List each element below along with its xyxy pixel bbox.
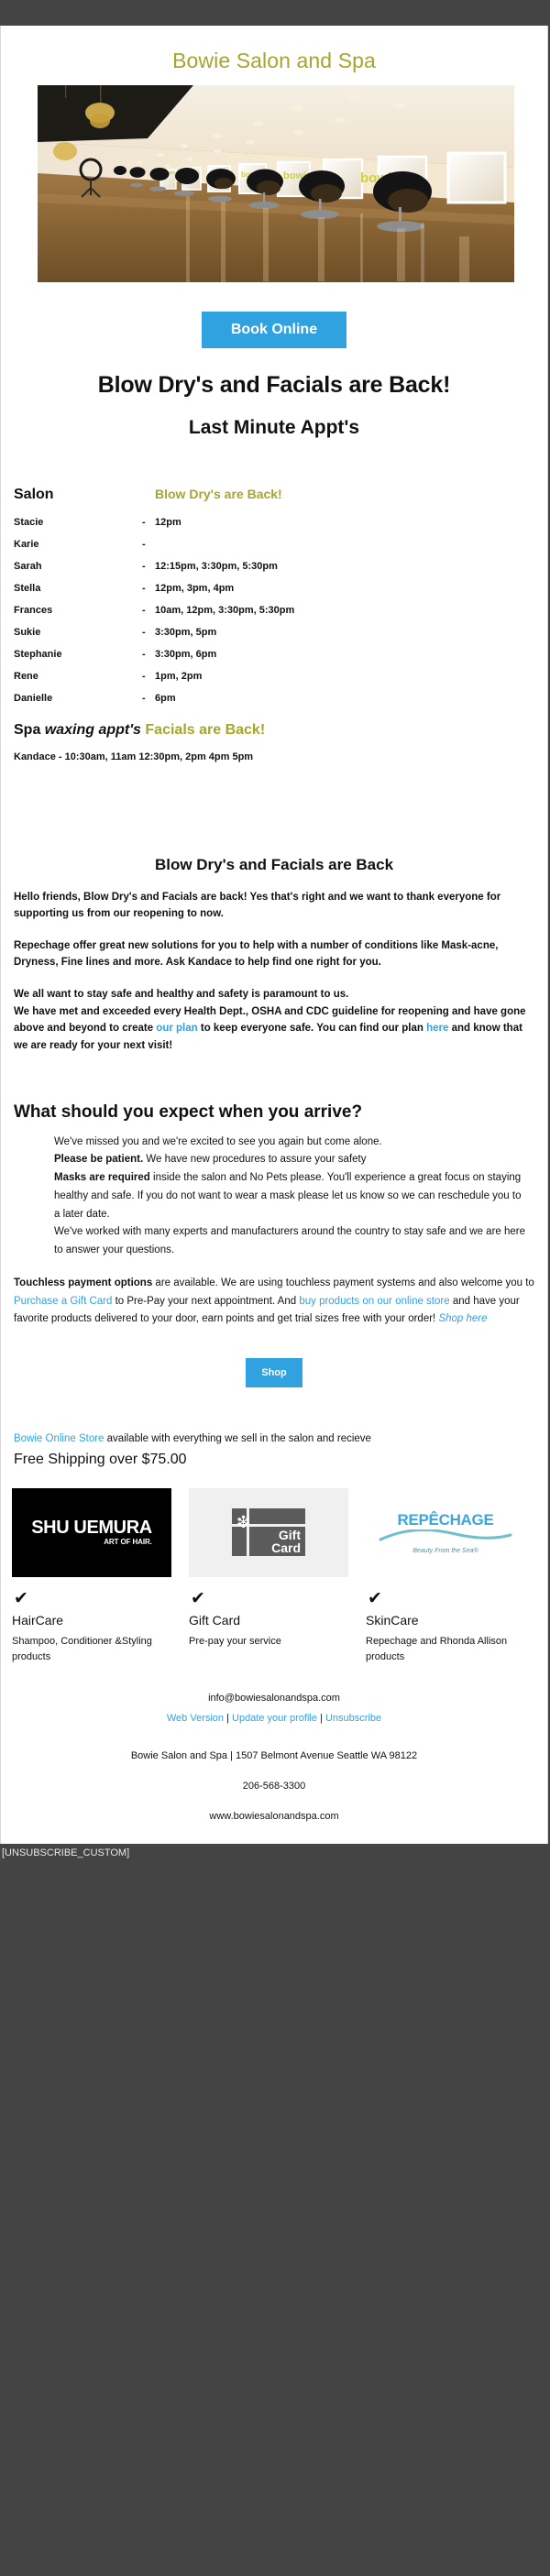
gift-card-wordmark: GiftCard [271,1529,301,1555]
table-row: Sarah - 12:15pm, 3:30pm, 5:30pm [14,555,534,577]
stylist-times: 10am, 12pm, 3:30pm, 5:30pm [155,599,534,621]
table-row: Karie - [14,533,534,555]
online-store-text: available with everything we sell in the… [104,1433,371,1444]
card-description: Shampoo, Conditioner &Styling products [12,1634,171,1665]
safety-line-3: to keep everyone safe. You can find our … [198,1023,426,1034]
stylist-name: Sukie [14,621,142,643]
checkmark-icon: ✔ [189,1577,348,1613]
expect-line-2: We have new procedures to assure your sa… [143,1154,366,1165]
expect-headline: What should you expect when you arrive? [1,1102,547,1123]
stylist-name: Danielle [14,687,142,709]
business-phone: 206-568-3300 [14,1781,534,1812]
schedule-header-row: Salon Blow Dry's are Back! [14,481,534,511]
our-plan-link[interactable]: our plan [156,1023,197,1034]
unsubscribe-link[interactable]: Unsubscribe [325,1713,381,1724]
safety-line-1: We all want to stay safe and healthy and… [14,989,348,1000]
card-gift-card[interactable]: ❇ GiftCard ✔ Gift Card Pre-pay your serv… [189,1488,348,1665]
expect-line-1: We've missed you and we're excited to se… [54,1136,382,1147]
book-online-row: Book Online [1,282,547,372]
contact-email: info@bowiesalonandspa.com [1,1665,547,1704]
dash-cell: - [142,555,155,577]
shop-button[interactable]: Shop [246,1358,302,1387]
card-title: HairCare [12,1613,171,1634]
table-row: Stacie - 12pm [14,511,534,533]
product-cards: SHU UEMURA ART OF HAIR. ✔ HairCare Shamp… [1,1468,547,1665]
expect-copy: We've missed you and we're excited to se… [1,1123,547,1260]
touchless-copy: Touchless payment options are available.… [1,1260,547,1329]
stylist-times: 12pm [155,511,534,533]
table-row: Stella - 12pm, 3pm, 4pm [14,577,534,599]
expect-line-4: We've worked with many experts and manuf… [54,1226,525,1255]
stylist-name: Rene [14,665,142,687]
card-haircare[interactable]: SHU UEMURA ART OF HAIR. ✔ HairCare Shamp… [12,1488,171,1665]
business-address: Bowie Salon and Spa | 1507 Belmont Avenu… [14,1751,534,1781]
repechage-tagline: Beauty From the Sea® [377,1548,514,1554]
spa-label: Spa [14,722,40,738]
table-row: Frances - 10am, 12pm, 3:30pm, 5:30pm [14,599,534,621]
card-title: SkinCare [366,1613,525,1634]
stylist-name: Stella [14,577,142,599]
footer-address-block: Bowie Salon and Spa | 1507 Belmont Avenu… [1,1724,547,1842]
spa-italic-label: waxing appt's [45,722,141,738]
schedule-table: Salon Blow Dry's are Back! Stacie - 12pm… [14,481,534,744]
shu-uemura-wordmark: SHU UEMURA [31,1518,152,1537]
online-store-link[interactable]: buy products on our online store [299,1296,449,1307]
table-row: Danielle - 6pm [14,687,534,709]
here-link[interactable]: here [426,1023,448,1034]
salon-promo-label: Blow Dry's are Back! [155,481,534,511]
link-separator: | [224,1713,232,1724]
expect-bold-patient: Please be patient. [54,1154,143,1165]
card-title: Gift Card [189,1613,348,1634]
dash-cell: - [142,621,155,643]
paragraph-repechage: Repechage offer great new solutions for … [14,937,534,971]
purchase-gift-card-link[interactable]: Purchase a Gift Card [14,1296,112,1307]
spacer-cell [142,481,155,511]
repechage-wordmark: REPÊCHAGE [377,1511,514,1529]
stylist-name: Stacie [14,511,142,533]
free-shipping-text: Free Shipping over $75.00 [1,1448,547,1468]
table-row: Sukie - 3:30pm, 5pm [14,621,534,643]
wave-icon [377,1529,514,1542]
table-row: Stephanie - 3:30pm, 6pm [14,643,534,665]
hero-illustration: bowie bowie bowie bowie bowie bowie [38,85,514,282]
top-frame-bar [0,0,550,26]
stylist-times: 12:15pm, 3:30pm, 5:30pm [155,555,534,577]
gift-card-icon: ❇ GiftCard [232,1508,305,1556]
online-store-line: Bowie Online Store available with everyt… [1,1411,547,1447]
dash-cell: - [142,511,155,533]
dash-cell: - [142,665,155,687]
paragraph-safety: We all want to stay safe and healthy and… [14,986,534,1055]
repechage-logo: REPÊCHAGE Beauty From the Sea® [366,1488,525,1577]
touchless-bold-label: Touchless payment options [14,1277,152,1288]
card-skincare[interactable]: REPÊCHAGE Beauty From the Sea® ✔ SkinCar… [366,1488,525,1665]
dash-cell: - [142,687,155,709]
expect-bold-masks: Masks are required [54,1172,150,1183]
dash-cell: - [142,599,155,621]
spa-header: Spa waxing appt's Facials are Back! [14,709,534,744]
dash-cell: - [142,577,155,599]
appointment-schedule: Salon Blow Dry's are Back! Stacie - 12pm… [1,439,547,768]
shop-button-row: Shop [1,1329,547,1411]
stylist-times: 12pm, 3pm, 4pm [155,577,534,599]
link-separator: | [317,1713,325,1724]
book-online-button[interactable]: Book Online [202,312,346,348]
checkmark-icon: ✔ [12,1577,171,1613]
footer-links: Web Version | Update your profile | Unsu… [1,1704,547,1724]
body-copy: Hello friends, Blow Dry's and Facials ar… [1,889,547,1055]
touchless-text-2: to Pre-Pay your next appointment. And [112,1296,299,1307]
sub-headline: Last Minute Appt's [1,417,547,439]
dash-cell: - [142,533,155,555]
bowie-online-store-link[interactable]: Bowie Online Store [14,1433,104,1444]
dash-cell: - [142,643,155,665]
salon-interior-photo: bowie bowie bowie bowie bowie bowie [38,85,514,282]
stylist-name: Stephanie [14,643,142,665]
stylist-times: 3:30pm, 6pm [155,643,534,665]
stylist-name: Karie [14,533,142,555]
stylist-name: Frances [14,599,142,621]
section-headline: Blow Dry's and Facials are Back [1,856,547,874]
paragraph-welcome: Hello friends, Blow Dry's and Facials ar… [14,889,534,923]
shu-uemura-tagline: ART OF HAIR. [31,1539,152,1546]
spa-appointment-row: Kandace - 10:30am, 11am 12:30pm, 2pm 4pm… [14,744,534,762]
stylist-times: 6pm [155,687,534,709]
table-row: Rene - 1pm, 2pm [14,665,534,687]
shu-uemura-logo: SHU UEMURA ART OF HAIR. [12,1488,171,1577]
shop-here-link[interactable]: Shop here [438,1313,487,1324]
salon-header-label: Salon [14,481,142,511]
stylist-name: Sarah [14,555,142,577]
email-body: Bowie Salon and Spa [0,26,548,1844]
spa-header-row: Spa waxing appt's Facials are Back! [14,709,534,744]
page-title: Bowie Salon and Spa [1,26,547,85]
ribbon-bow-icon: ❇ [236,1514,250,1530]
card-description: Repechage and Rhonda Allison products [366,1634,525,1665]
checkmark-icon: ✔ [366,1577,525,1613]
unsubscribe-custom-tag: [UNSUBSCRIBE_CUSTOM] [0,1844,550,1900]
gift-card-logo: ❇ GiftCard [189,1488,348,1577]
stylist-times: 3:30pm, 5pm [155,621,534,643]
business-website: www.bowiesalonandspa.com [14,1812,534,1842]
stylist-times [155,533,534,555]
stylist-times: 1pm, 2pm [155,665,534,687]
hero-image-wrapper: bowie bowie bowie bowie bowie bowie [1,85,547,282]
web-version-link[interactable]: Web Version [167,1713,224,1724]
update-profile-link[interactable]: Update your profile [232,1713,317,1724]
main-headline: Blow Dry's and Facials are Back! [1,372,547,399]
email-preview-page: Bowie Salon and Spa [0,0,550,2576]
card-description: Pre-pay your service [189,1634,348,1650]
spa-promo-label: Facials are Back! [145,722,265,738]
touchless-text-1: are available. We are using touchless pa… [152,1277,534,1288]
